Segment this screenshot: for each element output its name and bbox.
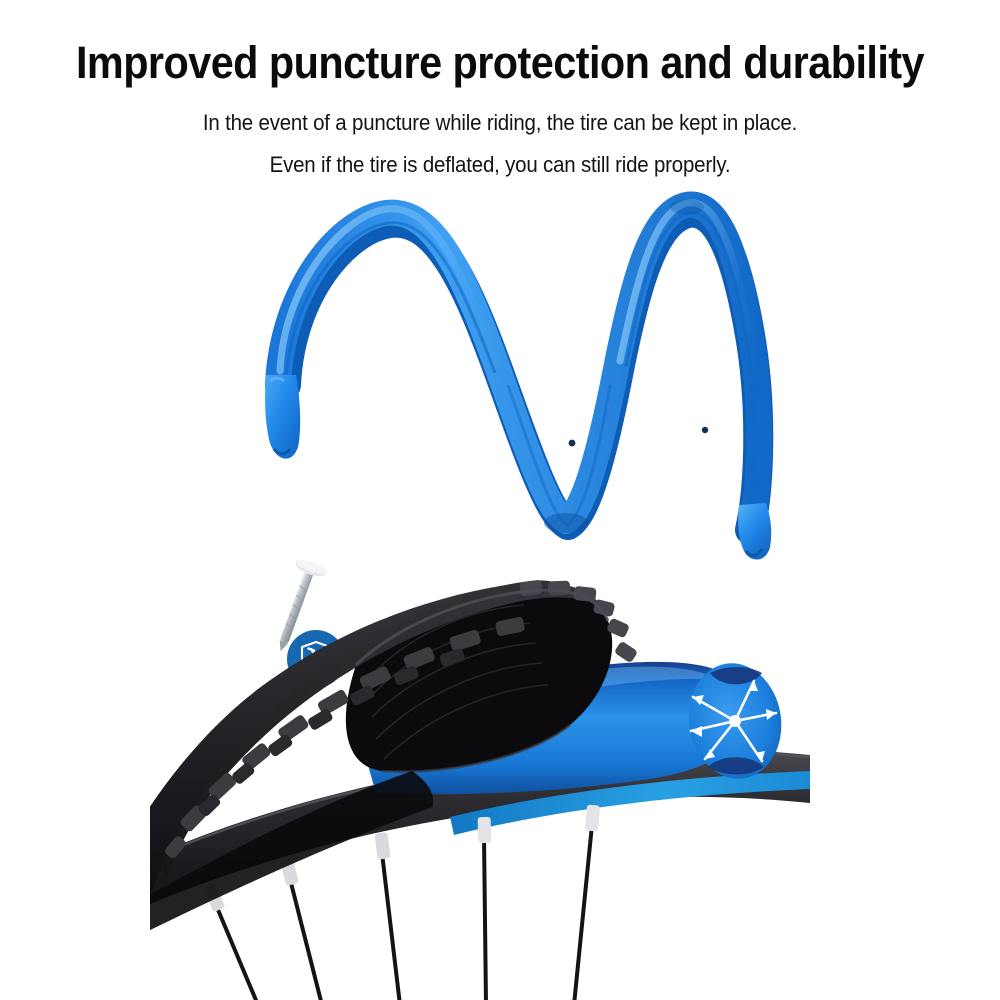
subtitle-line-1: In the event of a puncture while riding,… xyxy=(35,110,965,136)
product-feature-panel: Improved puncture protection and durabil… xyxy=(0,0,1000,1000)
foam-tire-insert-zigzag xyxy=(250,185,790,575)
foam-marking-dot-2 xyxy=(702,427,708,433)
tire-wheel-svg xyxy=(150,545,810,1000)
nail-shaft xyxy=(280,569,314,643)
subtitle-line-2: Even if the tire is deflated, you can st… xyxy=(35,152,965,178)
product-photo xyxy=(0,185,1000,1000)
foam-marking-dot-1 xyxy=(569,440,576,447)
nail xyxy=(266,556,329,656)
foam-strip-back-band xyxy=(286,213,758,530)
foam-insert-svg xyxy=(250,185,790,580)
bicycle-tire-cutaway xyxy=(150,545,790,995)
page-title: Improved puncture protection and durabil… xyxy=(40,38,960,88)
foam-strip-left-end xyxy=(265,375,300,459)
foam-fold-shadow xyxy=(544,513,588,533)
foam-peak-shadow xyxy=(670,199,704,215)
force-origin-dot xyxy=(729,715,741,727)
